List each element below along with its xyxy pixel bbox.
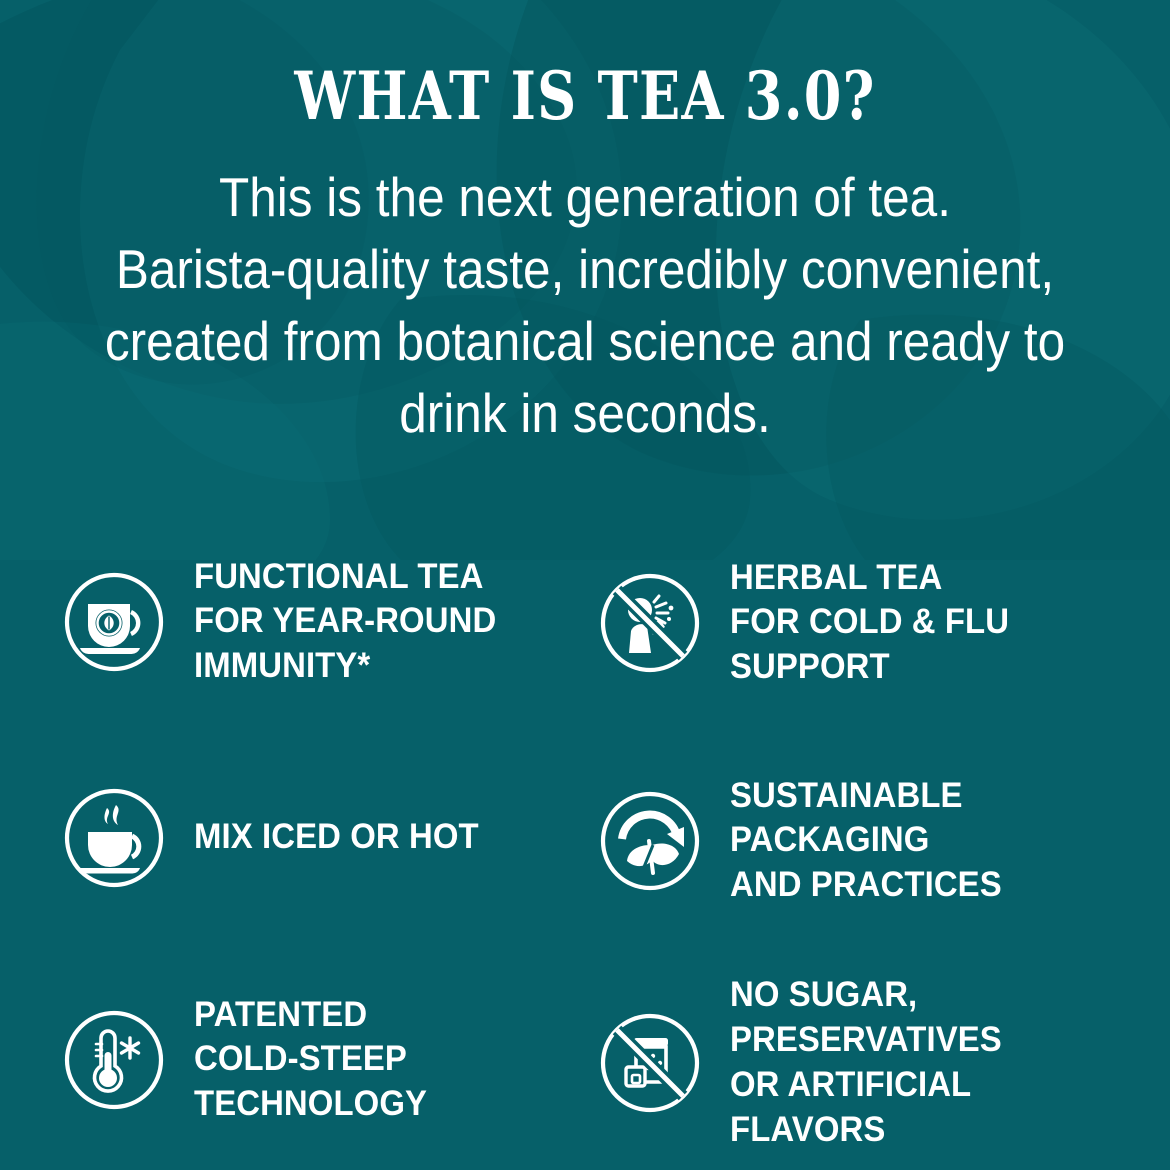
recycle-leaves-icon	[598, 789, 702, 893]
feature-label-herbal-tea: HERBAL TEA FOR COLD & FLU SUPPORT	[730, 556, 1009, 690]
feature-item-no-sugar: NO SUGAR, PRESERVATIVES OR ARTIFICIAL FL…	[598, 961, 1112, 1165]
page-title: WHAT IS TEA 3.0?	[105, 62, 1064, 131]
feature-item-herbal-tea: HERBAL TEA FOR COLD & FLU SUPPORT	[598, 517, 1112, 729]
no-sneezing-person-icon	[598, 571, 702, 675]
feature-item-mix-iced-or-hot: MIX ICED OR HOT	[62, 729, 576, 947]
teacup-leaf-icon	[62, 570, 166, 674]
no-sugar-jar-icon	[598, 1011, 702, 1115]
feature-label-mix-iced-or-hot: MIX ICED OR HOT	[194, 815, 479, 860]
thermometer-snowflake-icon	[62, 1008, 166, 1112]
steaming-cup-icon	[62, 786, 166, 890]
feature-label-cold-steep-technology: PATENTED COLD-STEEP TECHNOLOGY	[194, 993, 427, 1127]
feature-item-functional-tea: FUNCTIONAL TEA FOR YEAR-ROUND IMMUNITY*	[62, 515, 576, 729]
poster-subtitle: This is the next generation of tea. Bari…	[77, 161, 1094, 449]
feature-label-no-sugar: NO SUGAR, PRESERVATIVES OR ARTIFICIAL FL…	[730, 973, 1002, 1152]
feature-label-sustainable-packaging: SUSTAINABLE PACKAGING AND PRACTICES	[730, 774, 1002, 908]
poster-canvas: WHAT IS TEA 3.0? This is the next genera…	[0, 0, 1170, 1170]
poster-header: WHAT IS TEA 3.0? This is the next genera…	[0, 0, 1170, 449]
feature-grid: FUNCTIONAL TEA FOR YEAR-ROUND IMMUNITY*	[0, 511, 1170, 1165]
feature-label-functional-tea: FUNCTIONAL TEA FOR YEAR-ROUND IMMUNITY*	[194, 555, 496, 689]
feature-item-cold-steep-technology: PATENTED COLD-STEEP TECHNOLOGY	[62, 955, 576, 1165]
feature-item-sustainable-packaging: SUSTAINABLE PACKAGING AND PRACTICES	[598, 735, 1112, 947]
